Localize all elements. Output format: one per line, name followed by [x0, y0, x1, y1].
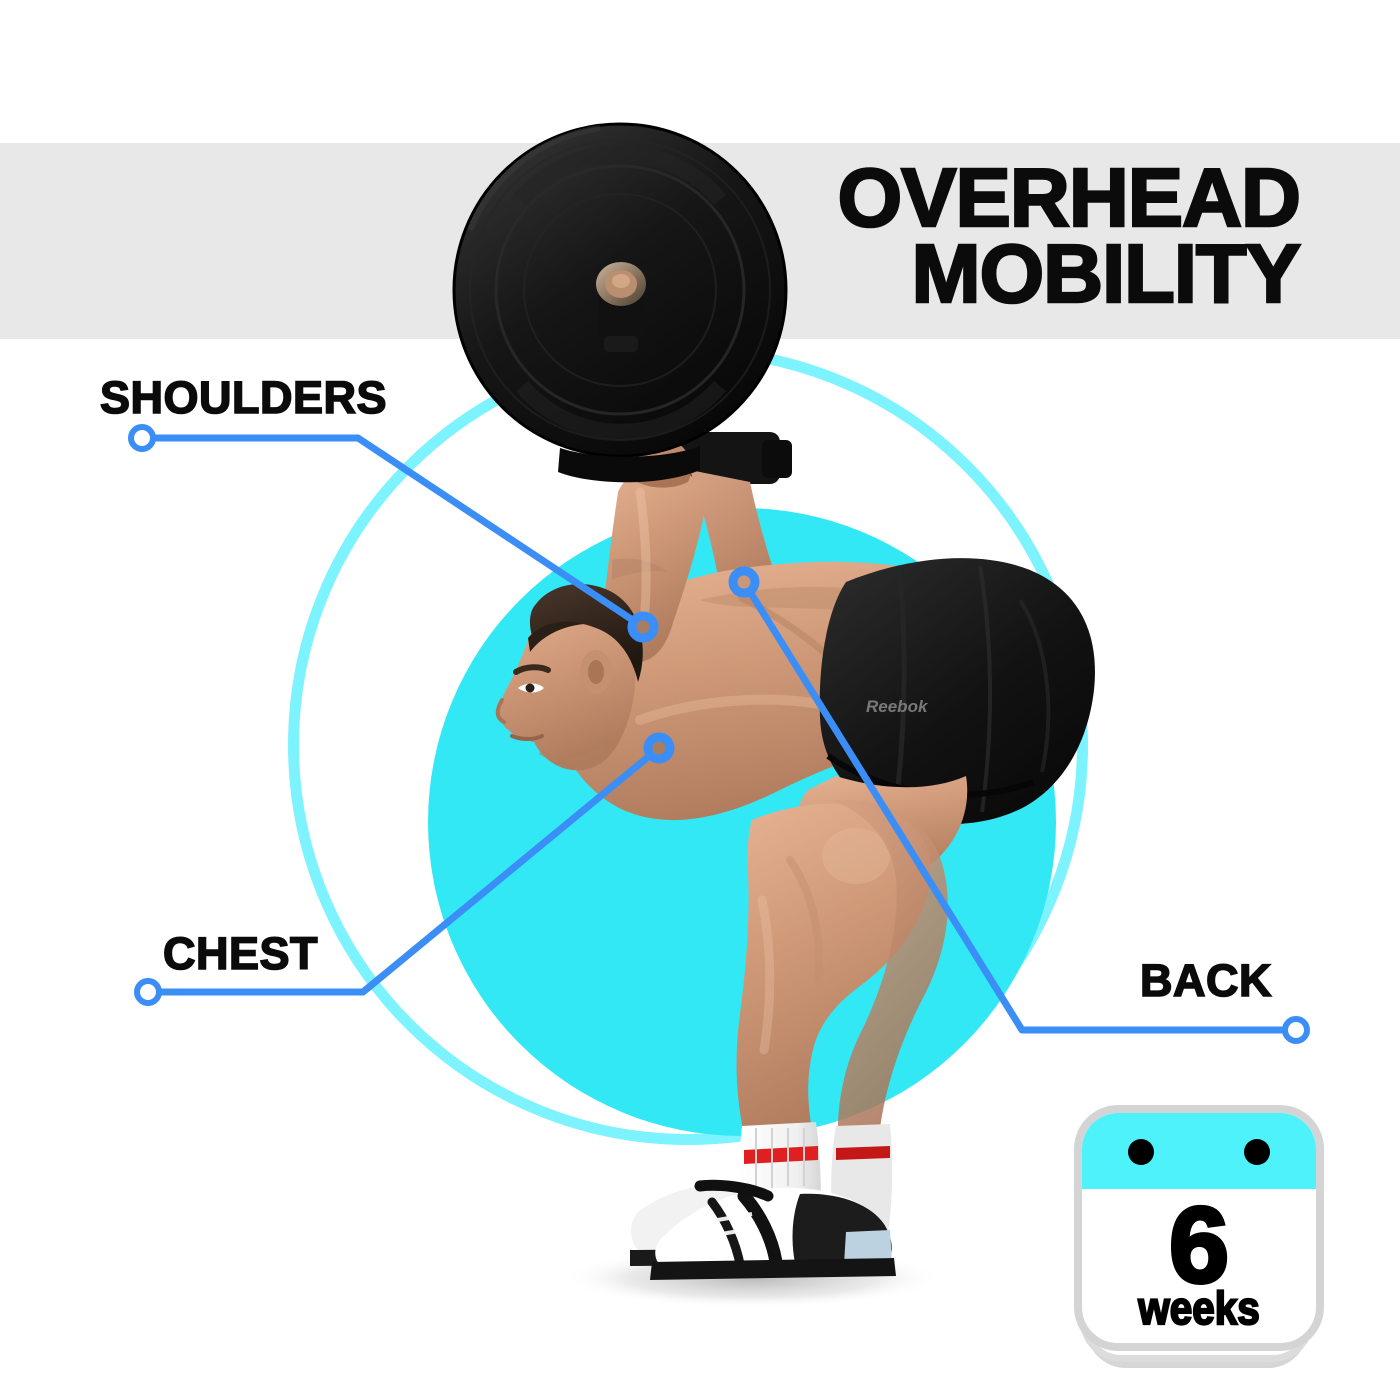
connector-anchor-back — [1285, 1019, 1307, 1041]
infographic-canvas: OVERHEAD MOBILITY — [0, 0, 1400, 1400]
calendar-ring-left-icon — [1128, 1139, 1154, 1165]
connector-target-shoulders — [632, 616, 654, 638]
calendar-header-band — [1082, 1113, 1316, 1189]
calendar-ring-right-icon — [1244, 1139, 1270, 1165]
connector-line-shoulders — [152, 438, 643, 627]
duration-unit: weeks — [1096, 1285, 1302, 1331]
callout-label-shoulders: SHOULDERS — [100, 372, 387, 424]
connector-anchor-shoulders — [131, 427, 153, 449]
calendar-icon: 6 weeks — [1074, 1105, 1324, 1351]
duration-badge: 6 weeks — [1062, 1100, 1330, 1385]
callout-label-chest: CHEST — [163, 928, 318, 980]
connector-target-back — [733, 571, 755, 593]
connector-anchor-chest — [137, 981, 159, 1003]
callout-label-back: BACK — [1140, 955, 1272, 1007]
connector-target-chest — [648, 737, 670, 759]
